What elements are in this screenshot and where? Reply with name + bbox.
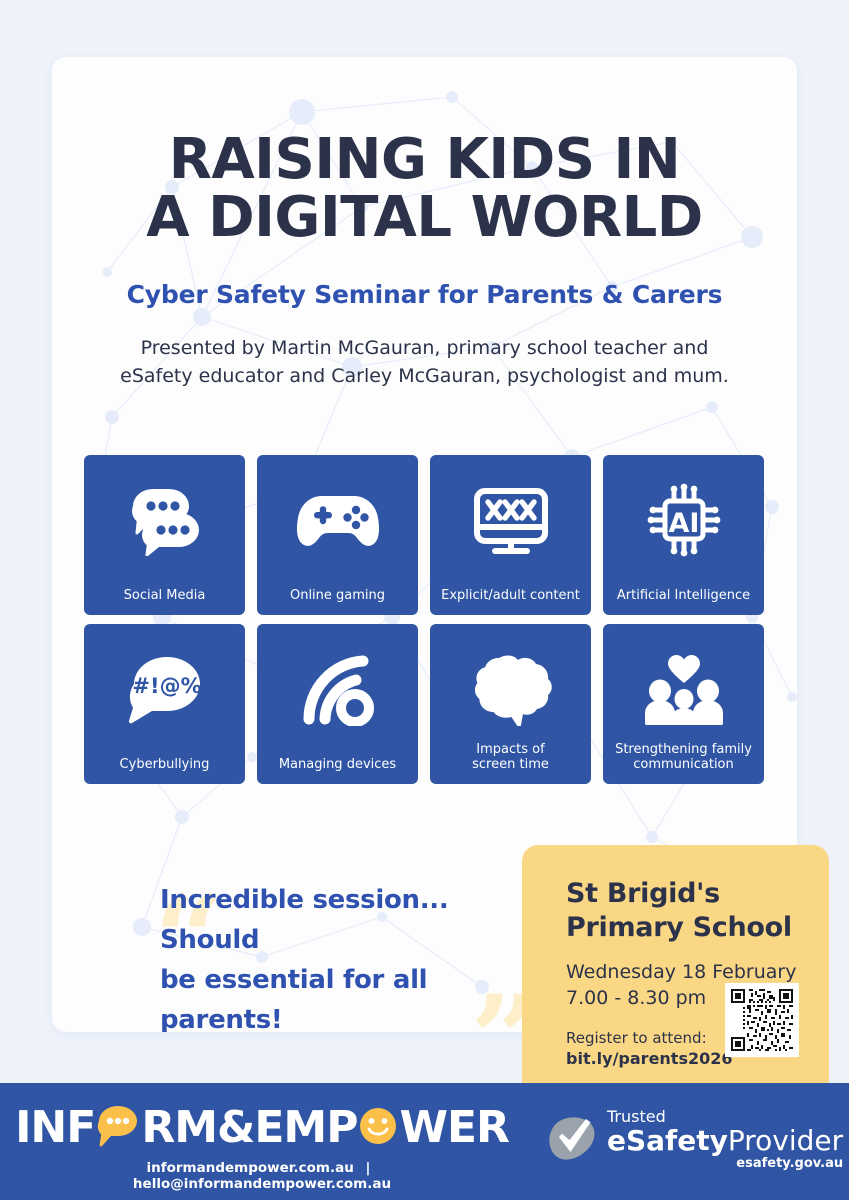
brand-email[interactable]: hello@informandempower.com.au (133, 1176, 391, 1192)
event-details-card: St Brigid's Primary School Wednesday 18 … (522, 845, 829, 1083)
topic-label-line-2: screen time (472, 757, 549, 772)
topic-tile-family-communication[interactable]: Strengthening family communication (603, 624, 764, 784)
topic-tile-label: Impacts of screen time (434, 742, 587, 772)
qr-code-icon[interactable] (725, 983, 799, 1057)
brand-website[interactable]: informandempower.com.au (147, 1160, 354, 1176)
presenter-line-1: Presented by Martin McGauran, primary sc… (104, 334, 745, 362)
page-title: RAISING KIDS IN A DIGITAL WORLD (52, 131, 797, 247)
testimonial-text: Incredible session... Should be essentia… (102, 832, 522, 1032)
topic-label-line-1: Impacts of (476, 742, 544, 757)
topic-label-line-2: communication (633, 757, 734, 772)
topic-tile-label: Explicit/adult content (434, 588, 587, 603)
testimonial-line-1: Incredible session... Should (160, 880, 522, 960)
headline-line-1: RAISING KIDS IN (52, 131, 797, 189)
esafety-trusted-provider-badge: Trusted eSafetyProvider esafety.gov.au (548, 1109, 843, 1170)
presenter-line-2: eSafety educator and Carley McGauran, ps… (104, 362, 745, 390)
topic-tile-online-gaming[interactable]: Online gaming (257, 455, 418, 615)
topic-tile-artificial-intelligence[interactable]: AI Artificial Intelligence (603, 455, 764, 615)
topic-tile-managing-devices[interactable]: Managing devices (257, 624, 418, 784)
speech-bubble-o-icon (96, 1103, 140, 1153)
venue-line-2: Primary School (566, 911, 829, 945)
topic-tile-label: Cyberbullying (88, 757, 241, 772)
topic-tile-label: Artificial Intelligence (607, 588, 760, 603)
brain-icon (468, 646, 554, 732)
event-date: Wednesday 18 February (566, 959, 829, 985)
presenter-description: Presented by Martin McGauran, primary sc… (104, 334, 745, 390)
speech-bubbles-icon (122, 477, 208, 563)
family-heart-icon (641, 646, 727, 732)
topic-label-line-1: Strengthening family (615, 742, 752, 757)
testimonial-line-2: be essential for all parents! (160, 960, 522, 1032)
topic-tile-label: Managing devices (261, 757, 414, 772)
svg-text:#!@%: #!@% (132, 674, 201, 698)
swearing-bubble-icon: #!@% (122, 646, 208, 732)
brand-wordmark: INF RM&EMP WER (38, 1102, 486, 1154)
monitor-xxx-icon (468, 477, 554, 563)
topic-tile-label: Social Media (88, 588, 241, 603)
topic-tile-screen-time[interactable]: Impacts of screen time (430, 624, 591, 784)
brand-logo: INF RM&EMP WER (38, 1102, 486, 1192)
esafety-url: esafety.gov.au (607, 1157, 843, 1170)
brand-text-part-3: WER (399, 1106, 508, 1150)
wifi-signal-icon (295, 646, 381, 732)
footer-bar: INF RM&EMP WER (0, 1083, 849, 1200)
esafety-bold-part: eSafety (607, 1124, 728, 1157)
contact-separator: | (359, 1160, 378, 1176)
testimonial: “ ” Incredible session... Should be esse… (102, 832, 522, 1032)
topic-tile-explicit-content[interactable]: Explicit/adult content (430, 455, 591, 615)
esafety-text-block: Trusted eSafetyProvider esafety.gov.au (607, 1109, 843, 1170)
esafety-provider-label: eSafetyProvider (607, 1126, 843, 1156)
esafety-trusted-label: Trusted (607, 1109, 843, 1125)
venue-line-1: St Brigid's (566, 877, 829, 911)
topic-tile-cyberbullying[interactable]: #!@% Cyberbullying (84, 624, 245, 784)
svg-text:AI: AI (668, 508, 699, 539)
topic-tile-label: Online gaming (261, 588, 414, 603)
topics-grid: Social Media Online gaming (84, 455, 765, 784)
topic-tile-label: Strengthening family communication (607, 742, 760, 772)
topic-tile-social-media[interactable]: Social Media (84, 455, 245, 615)
venue-name: St Brigid's Primary School (566, 877, 829, 945)
brand-text-part-1: INF (15, 1106, 95, 1150)
brand-contact-line: informandempower.com.au | hello@informan… (38, 1160, 486, 1192)
page-subtitle: Cyber Safety Seminar for Parents & Carer… (52, 280, 797, 309)
headline-line-2: A DIGITAL WORLD (52, 189, 797, 247)
checkmark-icon (548, 1115, 598, 1165)
brand-text-part-2: RM&EMP (141, 1106, 357, 1150)
esafety-light-part: Provider (728, 1124, 843, 1157)
gamepad-icon (295, 477, 381, 563)
ai-chip-icon: AI (641, 477, 727, 563)
smiley-face-o-icon (358, 1106, 398, 1150)
